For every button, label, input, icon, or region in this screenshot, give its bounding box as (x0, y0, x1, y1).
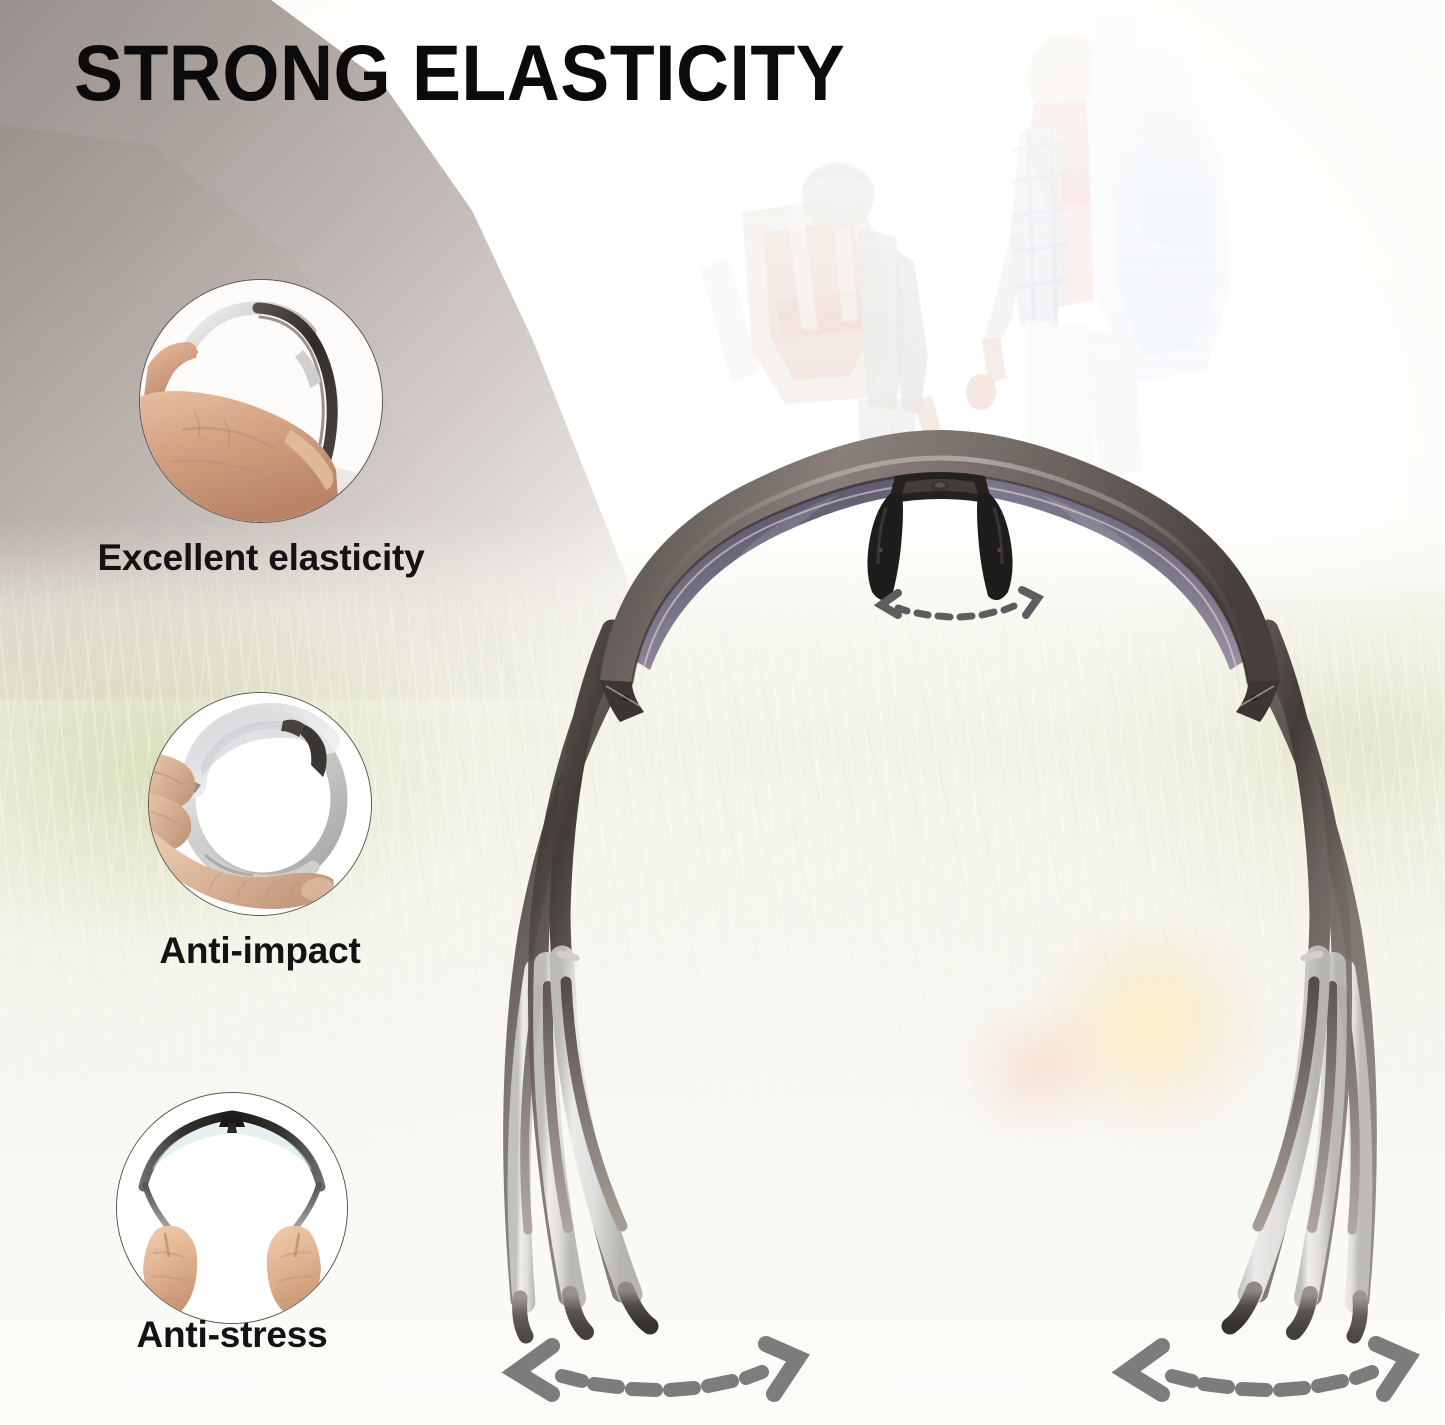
product-sunglasses (440, 430, 1440, 1380)
temple-arms-left (513, 630, 650, 1336)
hand-squeezing-glasses-circle-icon (148, 692, 372, 916)
feature-anti-impact: Anti-impact (148, 692, 372, 916)
feature-label-excellent-elasticity: Excellent elasticity (97, 537, 424, 579)
frame-brow-bar (600, 430, 1280, 686)
temple-arms-right (1230, 630, 1367, 1336)
flex-arrow-bottom-right (1104, 1332, 1434, 1425)
feature-label-anti-stress: Anti-stress (136, 1314, 327, 1356)
two-hands-stretching-glasses-icon (116, 1092, 348, 1324)
hand-bending-glasses-loop-icon (139, 279, 383, 523)
flex-arrow-top (872, 582, 1052, 646)
feature-excellent-elasticity: Excellent elasticity (139, 279, 383, 523)
product-feature-poster: STRONG ELASTICITY (0, 0, 1445, 1425)
page-title: STRONG ELASTICITY (74, 33, 845, 112)
flex-arrow-bottom-left (494, 1332, 824, 1425)
hiker-right (966, 12, 1230, 480)
feature-anti-stress: Anti-stress (116, 1092, 348, 1324)
feature-label-anti-impact: Anti-impact (159, 930, 360, 972)
